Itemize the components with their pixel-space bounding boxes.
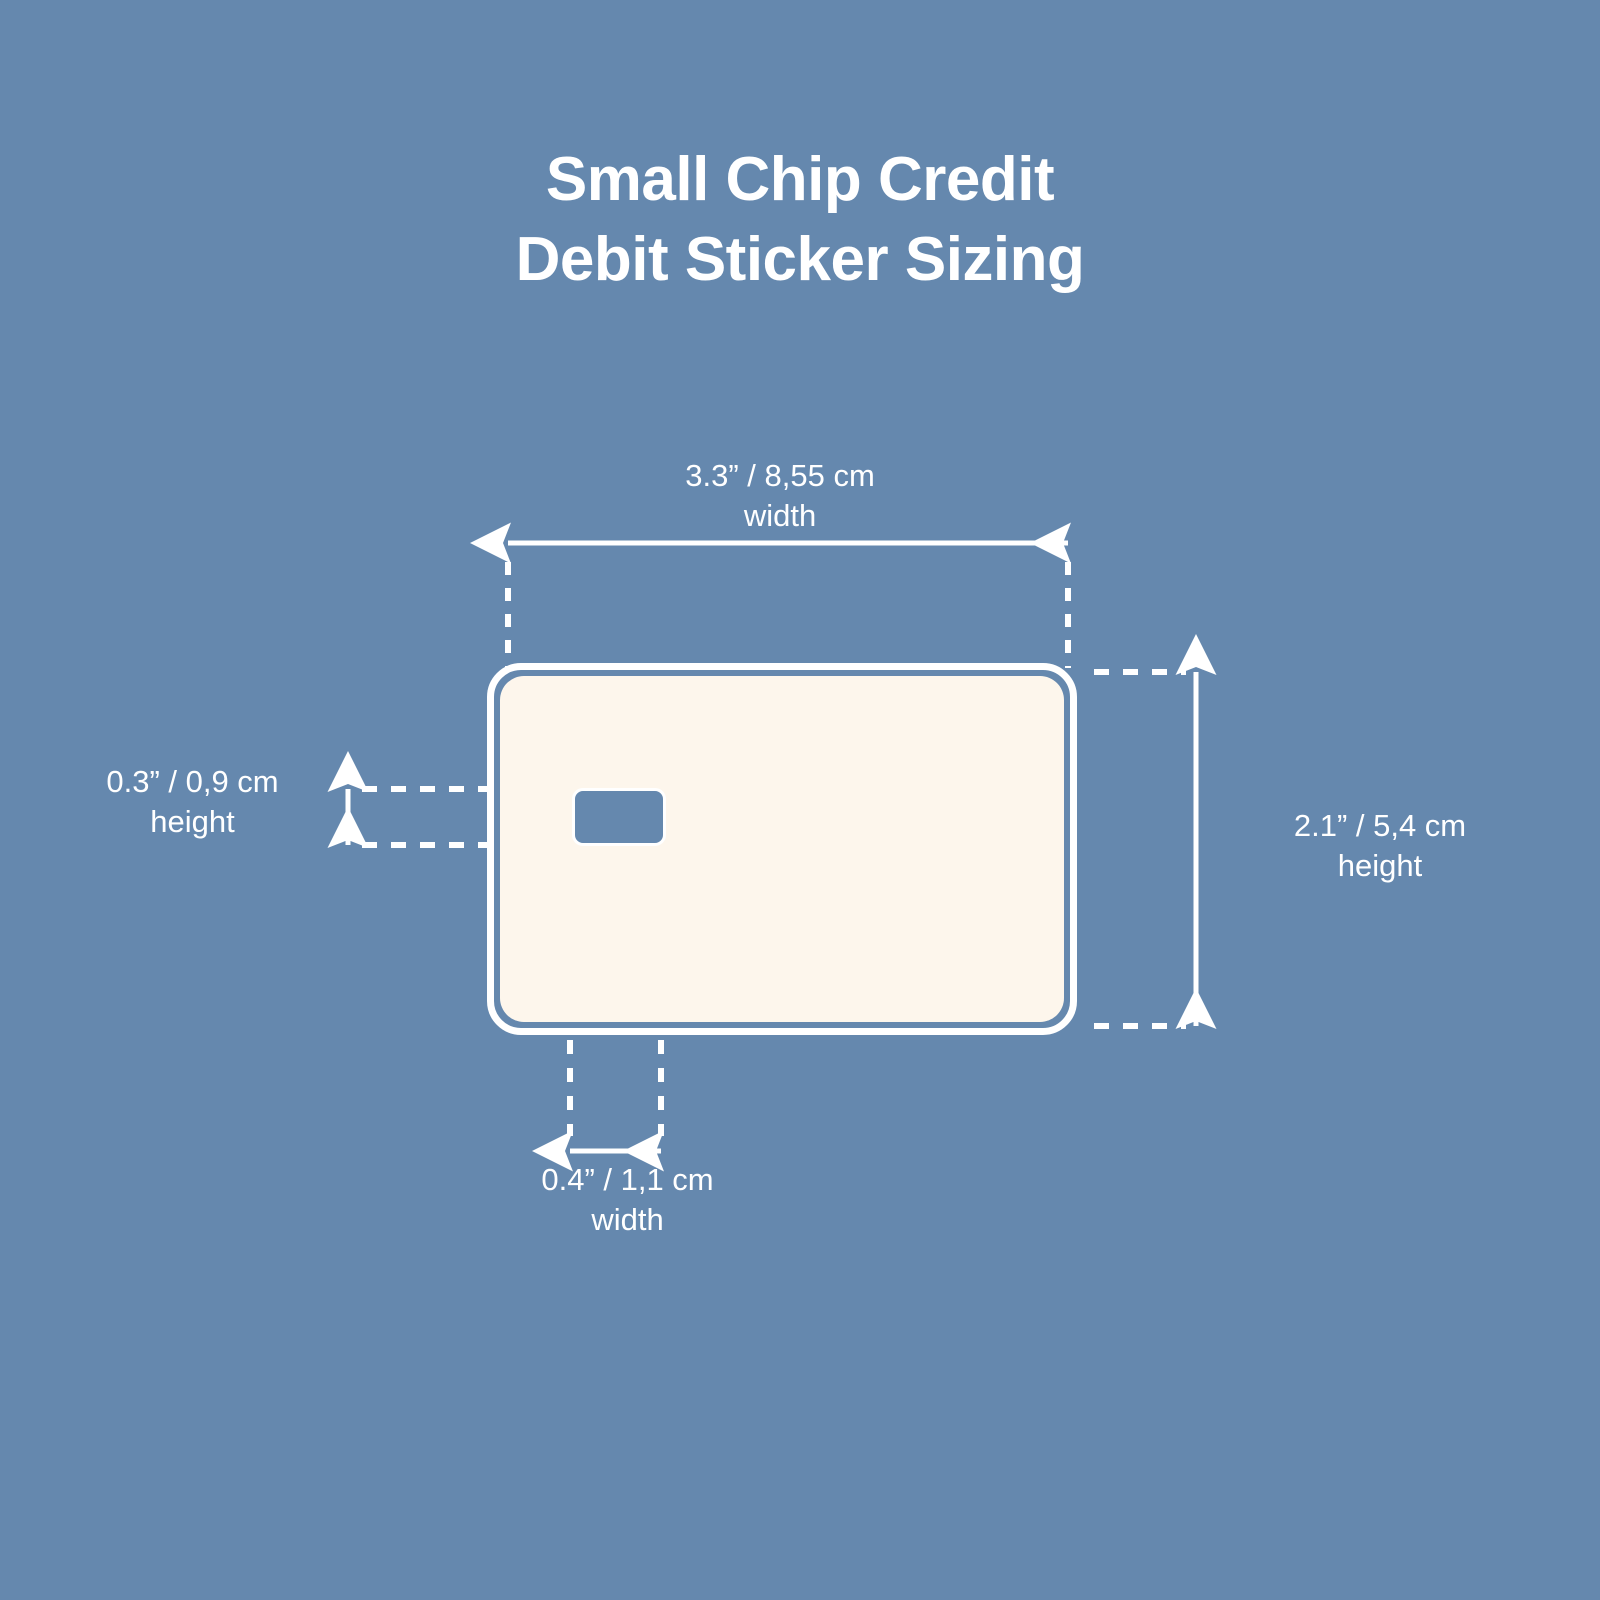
card-height-label: 2.1” / 5,4 cm height <box>1215 806 1545 886</box>
card-height-dimension <box>1094 672 1196 1026</box>
card-width-dimension <box>508 543 1068 668</box>
chip-width-label: 0.4” / 1,1 cm width <box>465 1160 790 1240</box>
sizing-diagram: Small Chip Credit Debit Sticker Sizing <box>0 0 1600 1600</box>
card-outline <box>487 663 1077 1035</box>
chip-height-label: 0.3” / 0,9 cm height <box>60 762 325 842</box>
card-width-label: 3.3” / 8,55 cm width <box>590 456 970 536</box>
card-chip-cutout <box>572 788 666 846</box>
